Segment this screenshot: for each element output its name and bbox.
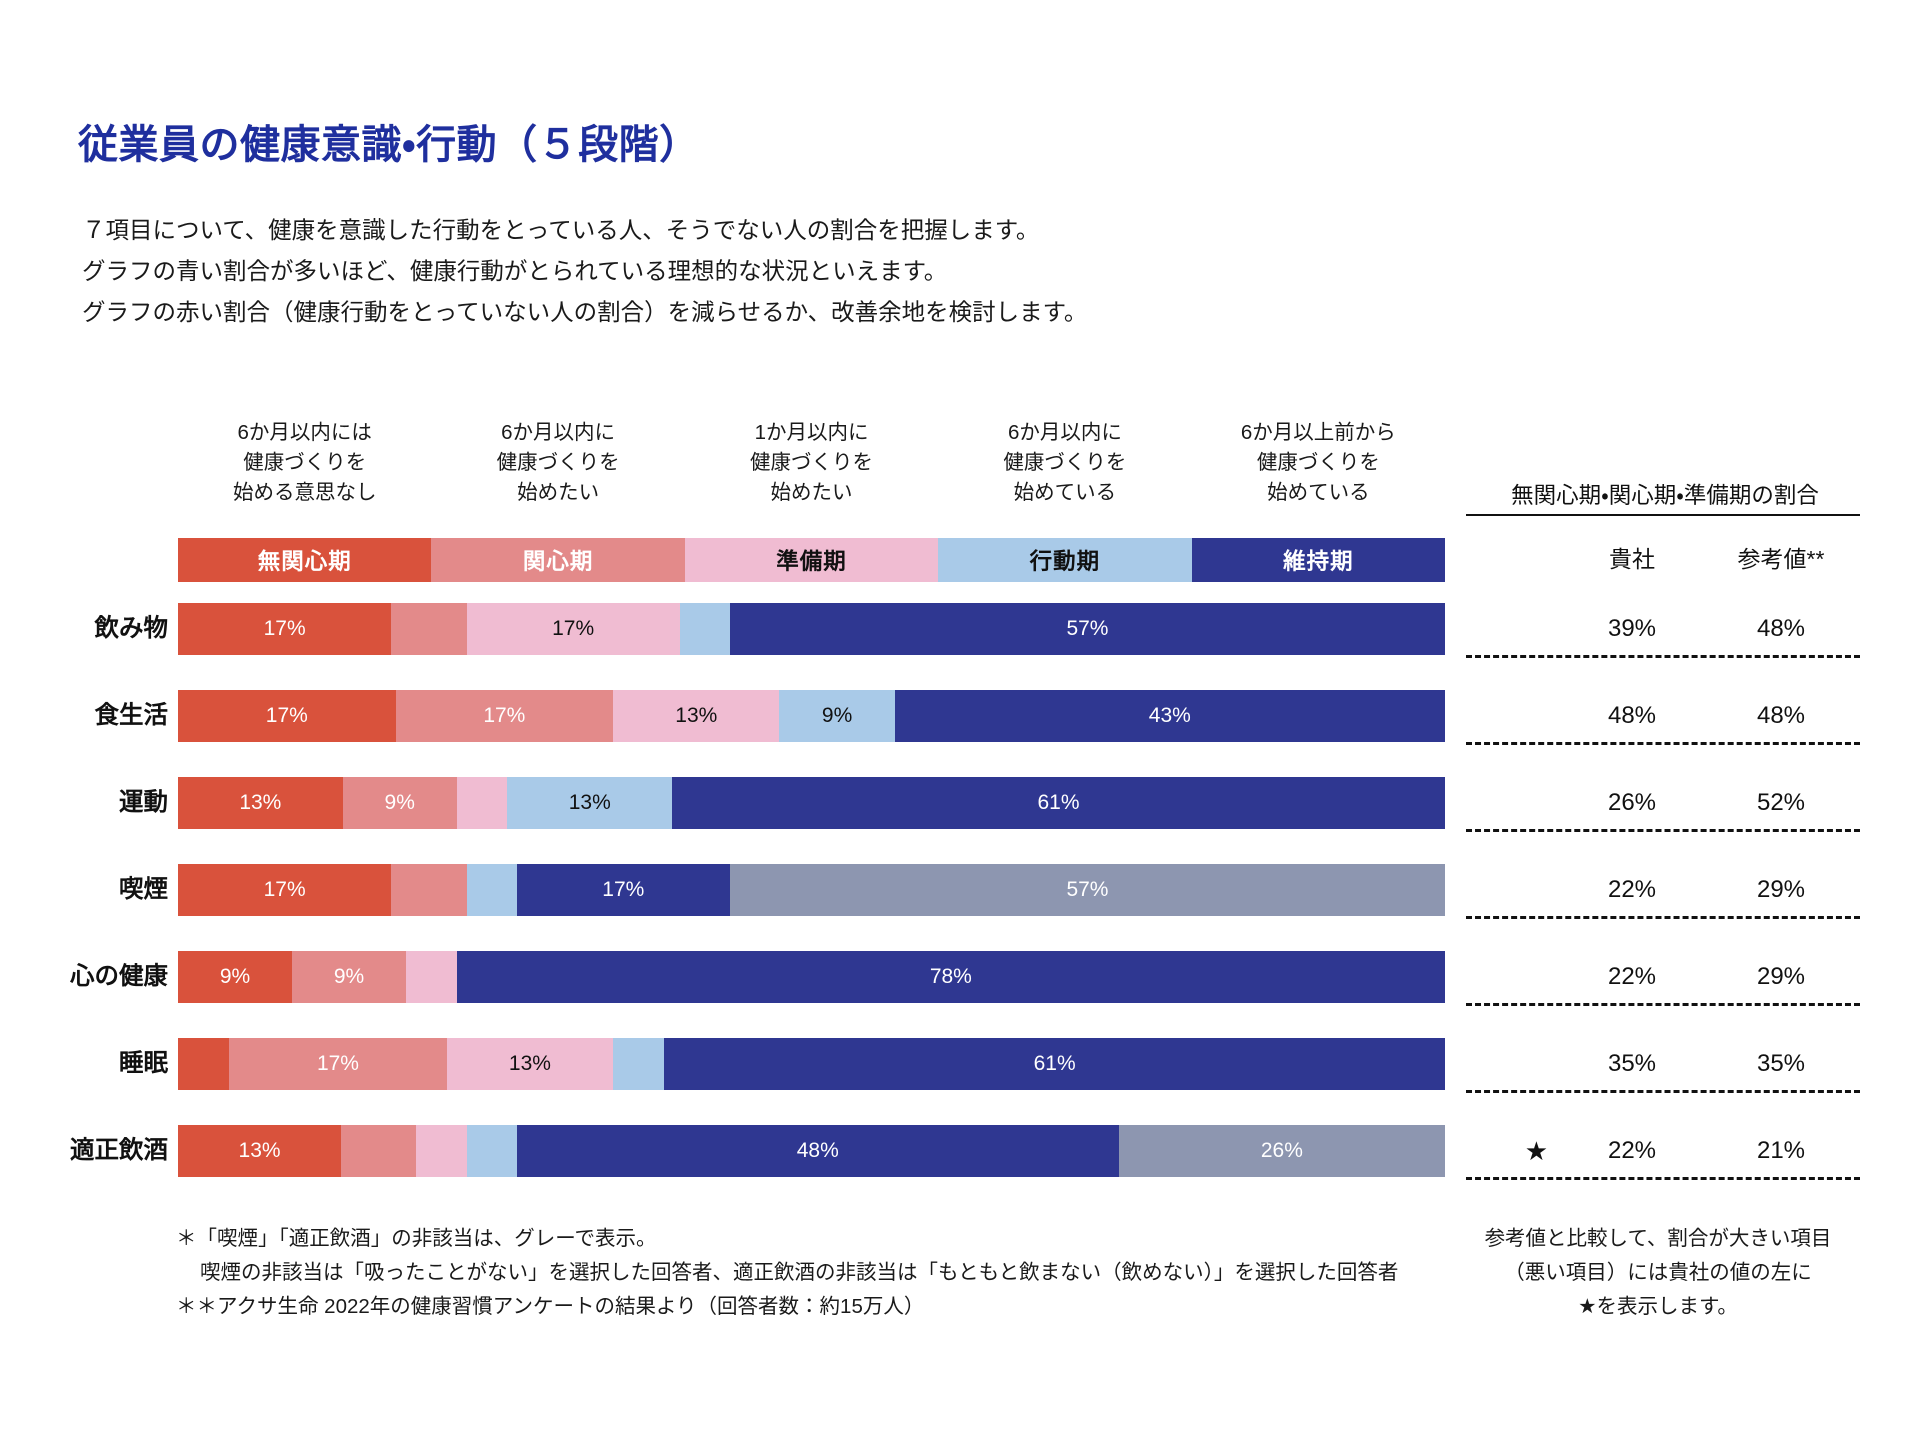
stage-caption-1-line-2: 健康づくりを [178,448,431,478]
bar-segment-value: 13% [675,704,717,728]
intro-line-1: ７項目について、健康を意識した行動をとっている人、そうでない人の割合を把握します… [82,210,1087,251]
bar-segment-行動期[interactable]: 9% [779,690,894,742]
legend-item-4[interactable]: 行動期 [938,538,1191,582]
stage-caption-4-line-1: 6か月以内に [938,418,1191,448]
own-column-header: 貴社 [1562,540,1702,574]
legend-item-label: 無関心期 [258,544,352,576]
bar-segment-準備期[interactable]: 13% [447,1038,613,1090]
reference-value: 21% [1702,1137,1860,1165]
right-panel-row-divider [1466,655,1860,658]
bar-segment-value: 61% [1034,1052,1076,1076]
stage-caption-1-line-1: 6か月以内には [178,418,431,448]
reference-value: 29% [1702,876,1860,904]
bar-segment-維持期[interactable]: 61% [664,1038,1445,1090]
bar-segment-value: 61% [1038,791,1080,815]
intro-line-2: グラフの青い割合が多いほど、健康行動がとられている理想的な状況といえます。 [82,251,1087,292]
own-value: 48% [1562,702,1702,730]
intro-text-block: ７項目について、健康を意識した行動をとっている人、そうでない人の割合を把握します… [82,210,1087,333]
star-column-header [1466,540,1562,574]
bar-segment-value: 17% [266,704,308,728]
reference-value: 48% [1702,702,1860,730]
stage-caption-2: 6か月以内に健康づくりを始めたい [431,418,684,508]
bar-segment-維持期[interactable]: 17% [517,864,730,916]
stacked-bar: 17%17%57% [178,864,1445,916]
right-panel-row: 22%29% [1466,864,1860,916]
right-panel-row: ★22%21% [1466,1125,1860,1177]
stacked-bar: 17%13%61% [178,1038,1445,1090]
stage-caption-5-line-1: 6か月以上前から [1192,418,1445,448]
bar-segment-value: 9% [822,704,852,728]
right-panel-row-divider [1466,829,1860,832]
right-panel-row-divider [1466,1177,1860,1180]
intro-line-3: グラフの赤い割合（健康行動をとっていない人の割合）を減らせるか、改善余地を検討し… [82,292,1087,333]
right-panel-subheaders: 貴社 参考値** [1466,540,1860,574]
reference-value: 35% [1702,1050,1860,1078]
row-label-心の健康: 心の健康 [0,951,168,1003]
right-panel-row: 22%29% [1466,951,1860,1003]
bar-segment-value: 17% [264,878,306,902]
legend-item-label: 関心期 [523,544,594,576]
star-note-line-2: （悪い項目）には貴社の値の左に [1448,1256,1868,1290]
bar-segment-関心期[interactable]: 9% [343,777,457,829]
legend-item-label: 準備期 [776,544,847,576]
bar-segment-value: 48% [797,1139,839,1163]
right-panel-row-divider [1466,1090,1860,1093]
bar-segment-関心期[interactable]: 9% [292,951,406,1003]
bar-segment-value: 9% [220,965,250,989]
bar-segment-value: 57% [1066,617,1108,641]
stage-captions: 6か月以内には健康づくりを始める意思なし6か月以内に健康づくりを始めたい1か月以… [178,418,1445,508]
bar-segment-無関心期[interactable]: 17% [178,690,396,742]
bar-segment-維持期[interactable]: 57% [730,603,1445,655]
bar-segment-value: 13% [239,1139,281,1163]
bar-segment-value: 17% [317,1052,359,1076]
bar-segment-維持期[interactable]: 78% [457,951,1445,1003]
bar-segment-維持期[interactable]: 48% [517,1125,1119,1177]
stage-caption-5-line-2: 健康づくりを [1192,448,1445,478]
bar-segment-準備期[interactable] [416,1125,466,1177]
stage-caption-1: 6か月以内には健康づくりを始める意思なし [178,418,431,508]
right-panel-row: 48%48% [1466,690,1860,742]
footnote-line-3: ＊＊アクサ生命 2022年の健康習慣アンケートの結果より（回答者数：約15万人） [176,1290,1398,1324]
bar-segment-無関心期[interactable]: 13% [178,1125,341,1177]
legend-item-2[interactable]: 関心期 [431,538,684,582]
stage-caption-4-line-2: 健康づくりを [938,448,1191,478]
bar-segment-非該当[interactable]: 26% [1119,1125,1445,1177]
bar-segment-行動期[interactable]: 13% [507,777,672,829]
legend-item-label: 行動期 [1030,544,1101,576]
stacked-bar: 9%9%78% [178,951,1445,1003]
footnote-line-2: 喫煙の非該当は「吸ったことがない」を選択した回答者、適正飲酒の非該当は「もともと… [176,1256,1398,1290]
stage-caption-4: 6か月以内に健康づくりを始めている [938,418,1191,508]
row-label-睡眠: 睡眠 [0,1038,168,1090]
page-title: 従業員の健康意識・行動（５段階） [78,112,700,170]
bar-segment-準備期[interactable]: 17% [467,603,680,655]
row-label-運動: 運動 [0,777,168,829]
legend-item-label: 維持期 [1283,544,1354,576]
bar-segment-value: 9% [385,791,415,815]
right-panel-row: 39%48% [1466,603,1860,655]
own-value: 22% [1562,1137,1702,1165]
bar-segment-関心期[interactable]: 17% [396,690,614,742]
star-marker: ★ [1466,1138,1562,1164]
bar-segment-行動期[interactable] [613,1038,664,1090]
legend-bar: 無関心期関心期準備期行動期維持期 [178,538,1445,582]
stage-caption-2-line-2: 健康づくりを [431,448,684,478]
row-label-飲み物: 飲み物 [0,603,168,655]
bar-segment-維持期[interactable]: 61% [672,777,1445,829]
right-panel-row-divider [1466,1003,1860,1006]
right-panel-row-divider [1466,742,1860,745]
bar-segment-value: 13% [569,791,611,815]
bar-segment-無関心期[interactable]: 17% [178,864,391,916]
reference-value: 29% [1702,963,1860,991]
bar-segment-value: 13% [239,791,281,815]
row-label-食生活: 食生活 [0,690,168,742]
stage-caption-3-line-1: 1か月以内に [685,418,938,448]
bar-segment-value: 17% [552,617,594,641]
reference-value: 52% [1702,789,1860,817]
bar-segment-行動期[interactable] [467,864,517,916]
reference-value: 48% [1702,615,1860,643]
bar-segment-無関心期[interactable]: 13% [178,777,343,829]
bar-segment-行動期[interactable] [680,603,730,655]
own-value: 22% [1562,963,1702,991]
row-label-喫煙: 喫煙 [0,864,168,916]
bar-segment-維持期[interactable]: 43% [895,690,1445,742]
stage-caption-3: 1か月以内に健康づくりを始めたい [685,418,938,508]
bar-segment-value: 57% [1066,878,1108,902]
bar-segment-value: 43% [1149,704,1191,728]
stage-caption-1-line-3: 始める意思なし [178,478,431,508]
bar-segment-準備期[interactable]: 13% [613,690,779,742]
bar-segment-関心期[interactable] [341,1125,416,1177]
stage-caption-5-line-3: 始めている [1192,478,1445,508]
right-panel-title: 無関心期・関心期・準備期の割合 [1470,478,1860,510]
bar-segment-value: 17% [602,878,644,902]
bar-segment-value: 13% [509,1052,551,1076]
right-panel-row-divider [1466,916,1860,919]
bar-segment-準備期[interactable] [406,951,457,1003]
bar-segment-関心期[interactable] [391,603,466,655]
stage-caption-2-line-1: 6か月以内に [431,418,684,448]
ref-column-header: 参考値** [1702,540,1860,574]
bar-segment-行動期[interactable] [467,1125,517,1177]
star-note-line-3: ★を表示します。 [1448,1290,1868,1324]
legend-item-5[interactable]: 維持期 [1192,538,1445,582]
bar-segment-value: 17% [483,704,525,728]
bar-segment-無関心期[interactable]: 17% [178,603,391,655]
bar-segment-関心期[interactable] [391,864,466,916]
bar-segment-value: 9% [334,965,364,989]
stacked-bar: 17%17%57% [178,603,1445,655]
legend-item-3[interactable]: 準備期 [685,538,938,582]
stacked-bar: 13%48%26% [178,1125,1445,1177]
right-panel-rule [1466,514,1860,516]
own-value: 22% [1562,876,1702,904]
stage-caption-3-line-3: 始めたい [685,478,938,508]
row-label-適正飲酒: 適正飲酒 [0,1125,168,1177]
own-value: 26% [1562,789,1702,817]
footnotes: ＊「喫煙」「適正飲酒」の非該当は、グレーで表示。 喫煙の非該当は「吸ったことがな… [176,1222,1398,1324]
star-note: 参考値と比較して、割合が大きい項目 （悪い項目）には貴社の値の左に ★を表示しま… [1448,1222,1868,1324]
bar-segment-value: 26% [1261,1139,1303,1163]
right-panel-row: 35%35% [1466,1038,1860,1090]
bar-segment-無関心期[interactable] [178,1038,229,1090]
stage-caption-5: 6か月以上前から健康づくりを始めている [1192,418,1445,508]
footnote-line-1: ＊「喫煙」「適正飲酒」の非該当は、グレーで表示。 [176,1222,1398,1256]
bar-segment-関心期[interactable]: 17% [229,1038,447,1090]
right-panel-row: 26%52% [1466,777,1860,829]
bar-segment-無関心期[interactable]: 9% [178,951,292,1003]
star-note-line-1: 参考値と比較して、割合が大きい項目 [1448,1222,1868,1256]
stage-caption-4-line-3: 始めている [938,478,1191,508]
stage-caption-3-line-2: 健康づくりを [685,448,938,478]
stacked-bar: 17%17%13%9%43% [178,690,1445,742]
own-value: 35% [1562,1050,1702,1078]
legend-item-1[interactable]: 無関心期 [178,538,431,582]
bar-segment-準備期[interactable] [457,777,508,829]
bar-segment-非該当[interactable]: 57% [730,864,1445,916]
stacked-bar: 13%9%13%61% [178,777,1445,829]
bar-segment-value: 78% [930,965,972,989]
stage-caption-2-line-3: 始めたい [431,478,684,508]
bar-segment-value: 17% [264,617,306,641]
own-value: 39% [1562,615,1702,643]
